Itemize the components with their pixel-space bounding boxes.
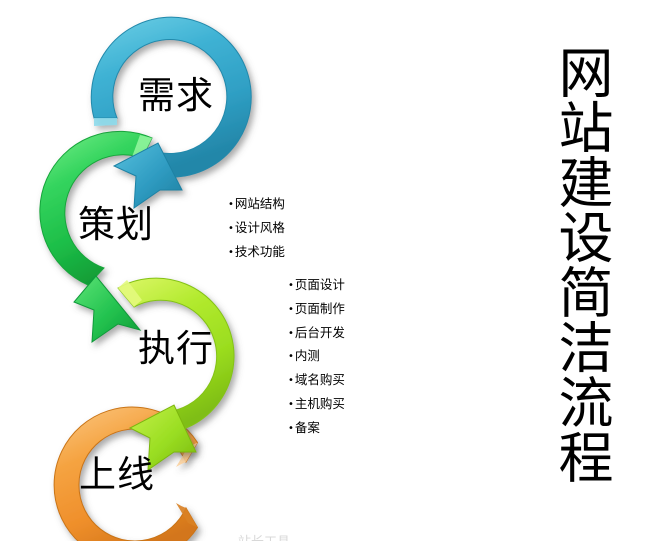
note-list-execution: 页面设计 页面制作 后台开发 内测 域名购买 主机购买 备案 bbox=[288, 274, 345, 441]
ring-execution[interactable] bbox=[118, 278, 234, 470]
note-list-planning: 网站结构 设计风格 技术功能 bbox=[228, 193, 285, 264]
note-item: 主机购买 bbox=[288, 393, 345, 417]
note-item: 页面制作 bbox=[288, 298, 345, 322]
note-item: 域名购买 bbox=[288, 369, 345, 393]
note-item: 内测 bbox=[288, 345, 345, 369]
stage-label-execution: 执行 bbox=[138, 330, 214, 367]
note-item: 后台开发 bbox=[288, 322, 345, 346]
note-item: 网站结构 bbox=[228, 193, 285, 217]
cropped-footer-text: 站长工具 bbox=[238, 531, 290, 541]
note-item: 备案 bbox=[288, 417, 345, 441]
slide-canvas: 需求 策划 执行 上线 网站结构 设计风格 技术功能 页面设计 页面制作 后台开… bbox=[0, 0, 655, 541]
stage-label-planning: 策划 bbox=[78, 206, 154, 243]
page-title: 网站建设简洁流程 bbox=[524, 44, 608, 484]
note-item: 页面设计 bbox=[288, 274, 345, 298]
stage-label-requirement: 需求 bbox=[138, 77, 214, 114]
stage-label-launch: 上线 bbox=[79, 456, 155, 493]
note-item: 设计风格 bbox=[228, 217, 285, 241]
note-item: 技术功能 bbox=[228, 241, 285, 265]
circular-arrows-graphic bbox=[0, 0, 520, 541]
process-diagram: 需求 策划 执行 上线 网站结构 设计风格 技术功能 页面设计 页面制作 后台开… bbox=[0, 0, 520, 541]
